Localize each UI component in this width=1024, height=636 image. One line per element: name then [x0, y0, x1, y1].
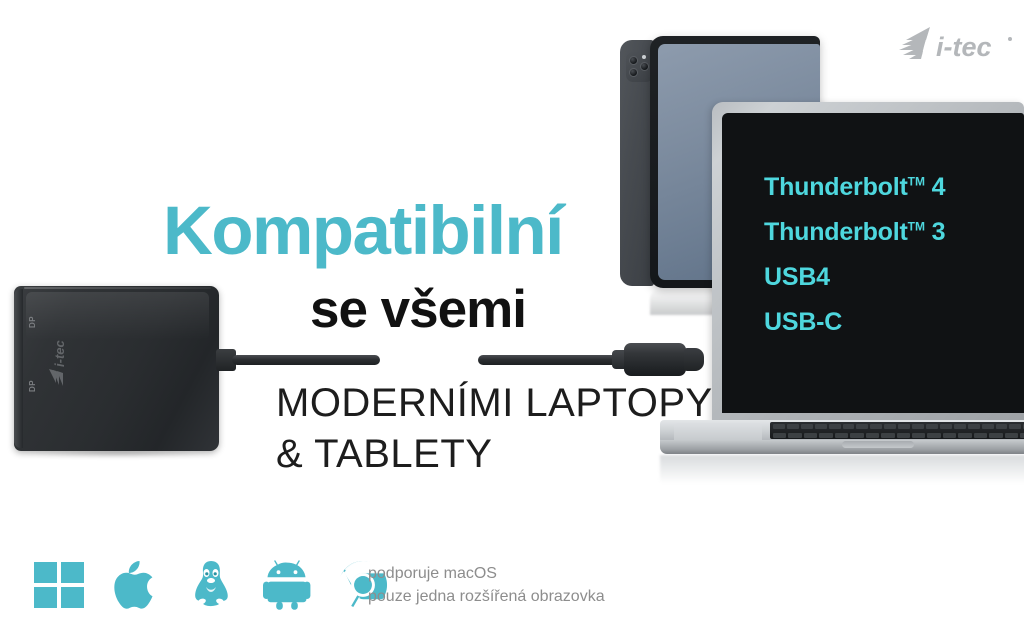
- keyboard-row: [770, 431, 1024, 439]
- trademark-mark: TM: [908, 220, 925, 234]
- svg-text:i-tec: i-tec: [936, 32, 992, 62]
- headline-primary: Kompatibilní: [163, 196, 563, 265]
- list-item: ThunderboltTM 3: [764, 220, 945, 245]
- usb-c-connector-tip: [684, 348, 704, 371]
- linux-icon: [186, 560, 236, 610]
- usb-c-connector-body: [624, 343, 686, 376]
- laptop-reflection: [660, 455, 1024, 491]
- footer-note-line1: podporuje macOS: [368, 562, 728, 585]
- dock-body: [14, 286, 219, 451]
- svg-text:i-tec: i-tec: [52, 340, 67, 368]
- laptop-device: ThunderboltTM 4 ThunderboltTM 3 USB4 USB…: [712, 102, 1024, 462]
- laptop-base-notch: [842, 441, 914, 448]
- keyboard-row: [770, 422, 1024, 431]
- camera-lens: [629, 56, 638, 65]
- cable-segment-right: [478, 355, 630, 365]
- list-item-suffix: 3: [925, 218, 945, 246]
- itec-chevron-icon: i-tec: [896, 25, 1016, 67]
- tablet-back-panel: [620, 40, 654, 286]
- dock-port-label-dp-top: DP: [28, 316, 37, 328]
- trademark-mark: TM: [908, 175, 925, 189]
- list-item: USB4: [764, 265, 945, 290]
- apple-icon: [110, 560, 160, 610]
- dock-port-label-dp-bottom: DP: [28, 380, 37, 392]
- itec-brand-logo: i-tec: [896, 22, 1018, 70]
- headline-secondary: se všemi: [310, 283, 570, 336]
- dock-itec-logo-icon: i-tec: [48, 367, 112, 389]
- list-item-suffix: 4: [925, 173, 945, 201]
- cable-segment-left: [232, 355, 380, 365]
- footer-note-line2: pouze jedna rozšířená obrazovka: [368, 585, 728, 608]
- tablet-camera-module-icon: [626, 52, 653, 82]
- android-icon: [262, 560, 312, 610]
- os-support-row: [34, 560, 388, 610]
- list-item-label: USB4: [764, 263, 830, 291]
- compatibility-list: ThunderboltTM 4 ThunderboltTM 3 USB4 USB…: [764, 175, 945, 355]
- list-item: USB-C: [764, 310, 945, 335]
- list-item-label: Thunderbolt: [764, 218, 908, 246]
- laptop-screen: ThunderboltTM 4 ThunderboltTM 3 USB4 USB…: [722, 113, 1024, 413]
- dock-highlight: [24, 287, 211, 289]
- windows-icon: [34, 560, 84, 610]
- camera-lens: [629, 68, 638, 77]
- poster-canvas: i-tec Kompatibilní se všemi MODERNÍMI LA…: [0, 0, 1024, 636]
- list-item-label: USB-C: [764, 308, 842, 336]
- footer-note: podporuje macOS pouze jedna rozšířená ob…: [368, 562, 728, 608]
- dock-left-edge: [14, 289, 23, 448]
- headline-tertiary-line1: MODERNÍMI LAPTOPY: [276, 381, 713, 425]
- list-item: ThunderboltTM 4: [764, 175, 945, 200]
- camera-lens: [640, 62, 649, 71]
- camera-flash-icon: [642, 55, 646, 59]
- laptop-keyboard: [770, 422, 1024, 439]
- list-item-label: Thunderbolt: [764, 173, 908, 201]
- docking-station-device: DP DP i-tec: [14, 286, 219, 451]
